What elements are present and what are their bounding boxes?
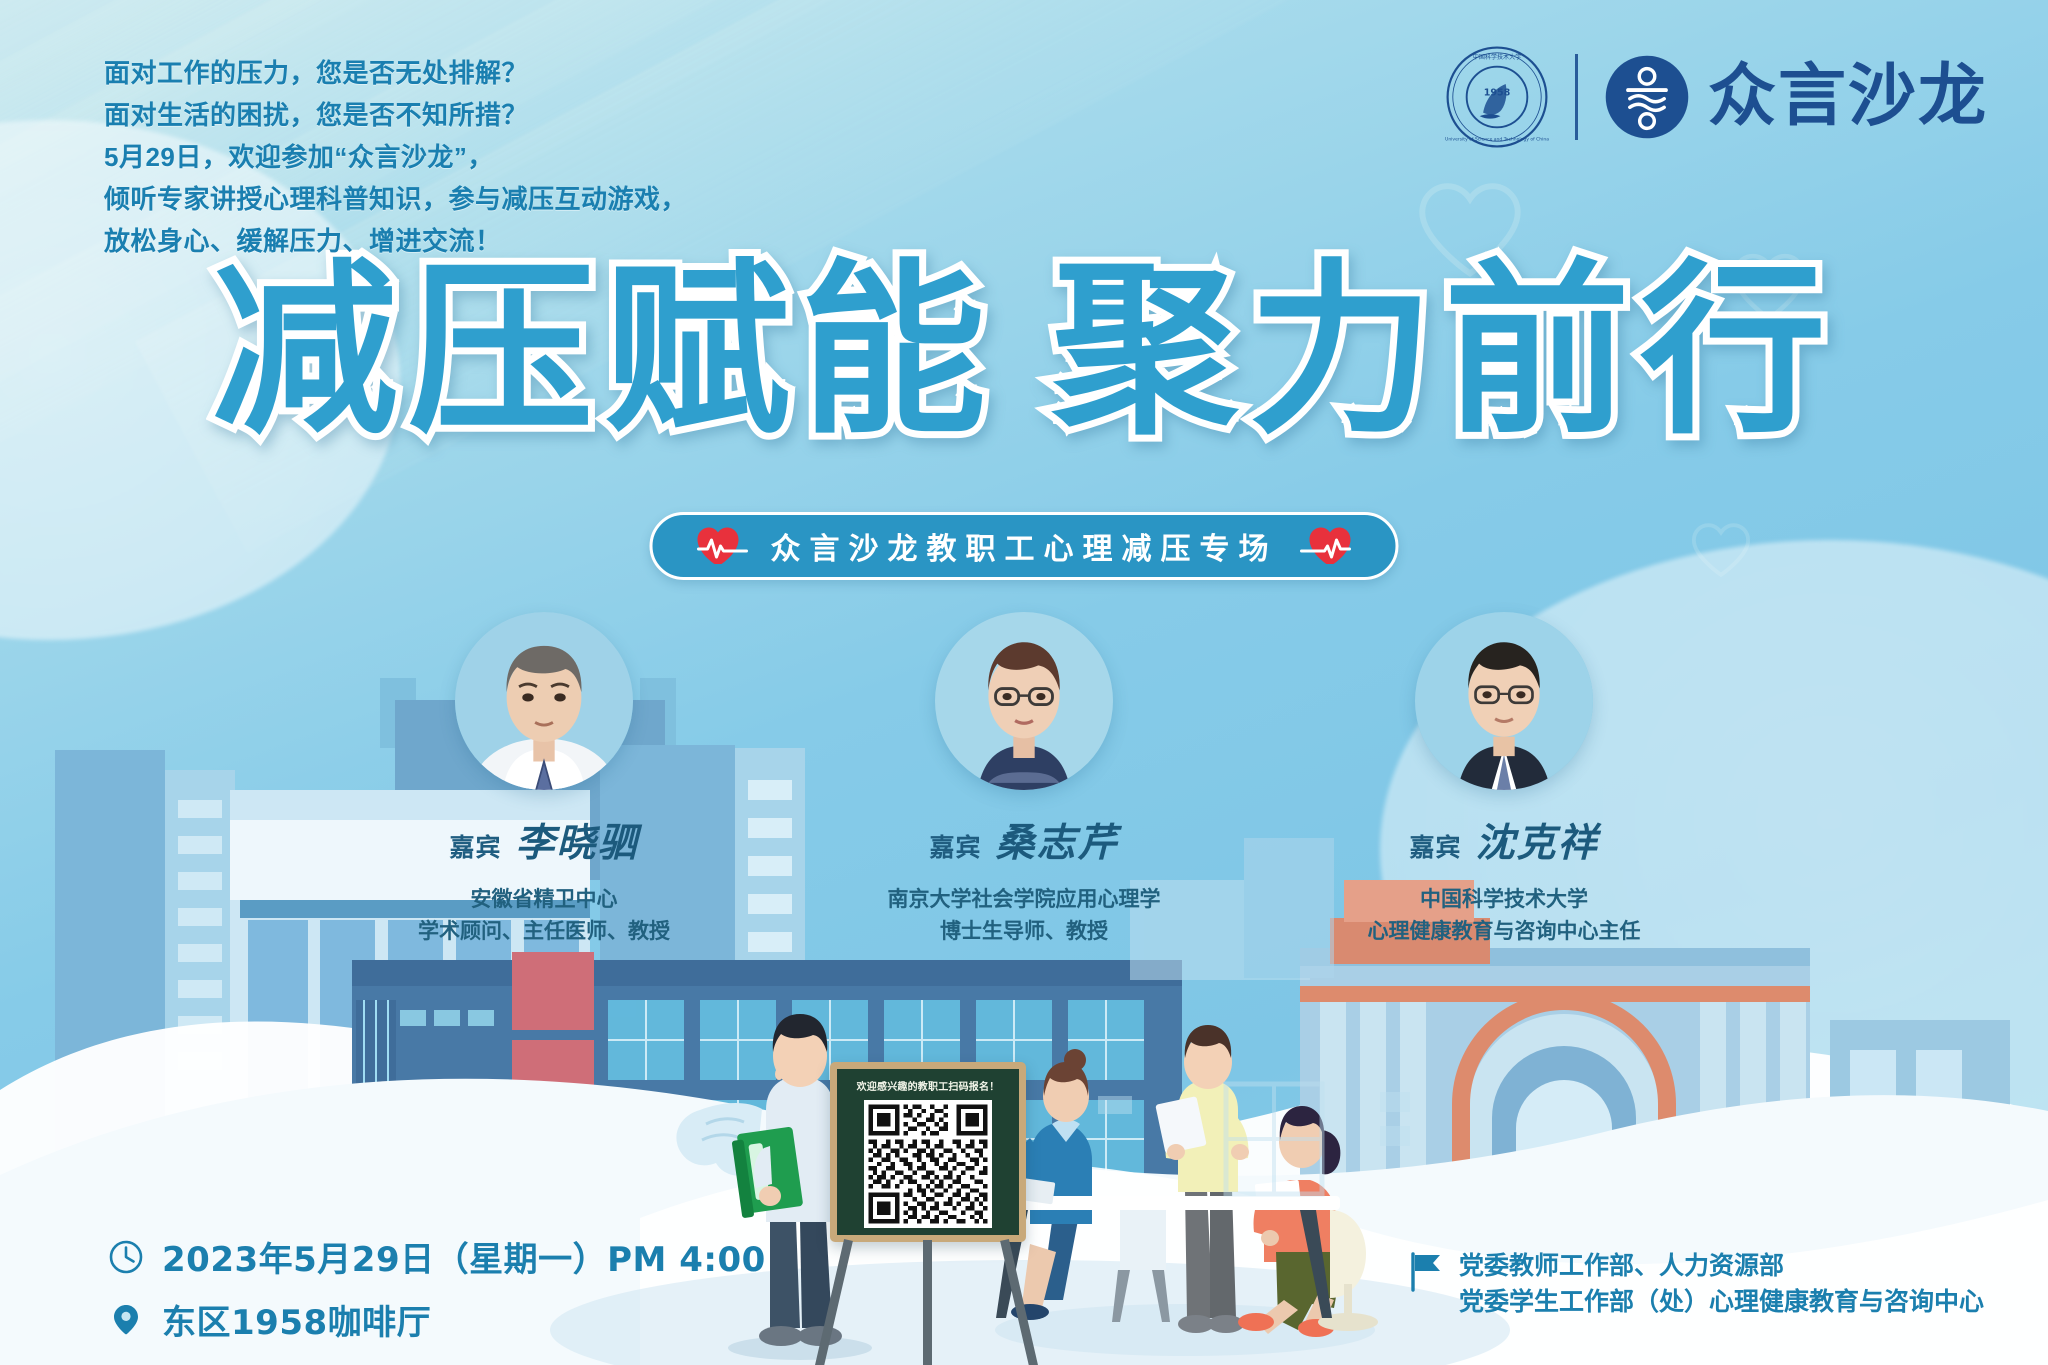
board-leg-left xyxy=(814,1239,853,1365)
board-leg-center xyxy=(923,1240,932,1365)
registration-board: 欢迎感兴趣的教职工扫码报名！ xyxy=(830,1062,1026,1242)
title-part-2: 聚力前行 xyxy=(1052,242,1836,459)
guest-affiliation-line: 南京大学社会学院应用心理学 xyxy=(859,884,1189,916)
guest-name-line: 嘉宾 李晓驷 xyxy=(379,812,709,868)
event-location: 东区1958咖啡厅 xyxy=(162,1295,431,1344)
title-part-1: 减压赋能 xyxy=(212,242,996,459)
intro-paragraph: 面对工作的压力，您是否无处排解？ 面对生活的困扰，您是否不知所措？ 5月29日，… xyxy=(104,52,687,263)
decorative-heart-icon xyxy=(1690,520,1752,578)
guest-card: 嘉宾 李晓驷 安徽省精卫中心 学术顾问、主任医师、教授 xyxy=(379,612,709,947)
guest-name: 桑志芹 xyxy=(996,812,1119,868)
guest-card: 嘉宾 沈克祥 中国科学技术大学 心理健康教育与咨询中心主任 xyxy=(1339,612,1669,947)
guest-name-line: 嘉宾 沈克祥 xyxy=(1339,812,1669,868)
guest-affiliation-line: 安徽省精卫中心 xyxy=(379,884,709,916)
illustration-meeting-group xyxy=(995,1025,1378,1356)
registration-qr-code[interactable] xyxy=(864,1100,992,1228)
guest-name: 李晓驷 xyxy=(516,812,639,868)
blackboard: 欢迎感兴趣的教职工扫码报名！ xyxy=(830,1062,1026,1242)
guest-affiliation: 中国科学技术大学 心理健康教育与咨询中心主任 xyxy=(1339,884,1669,947)
guest-affiliation-line: 心理健康教育与咨询中心主任 xyxy=(1339,916,1669,948)
subtitle-text: 众言沙龙教职工心理减压专场 xyxy=(771,524,1278,568)
guest-affiliation-line: 博士生导师、教授 xyxy=(859,916,1189,948)
guest-role-label: 嘉宾 xyxy=(1409,828,1461,864)
guest-affiliation-line: 学术顾问、主任医师、教授 xyxy=(379,916,709,948)
svg-text:1958: 1958 xyxy=(1484,87,1511,98)
poster-root: 面对工作的压力，您是否无处排解？ 面对生活的困扰，您是否不知所措？ 5月29日，… xyxy=(0,0,2048,1365)
logo-block: 1958 中国科学技术大学 University of Science and … xyxy=(1445,45,1988,149)
svg-text:中国科学技术大学: 中国科学技术大学 xyxy=(1473,53,1521,61)
guest-portrait-li-xiaosi xyxy=(455,612,633,790)
intro-line-2: 面对生活的困扰，您是否不知所措？ xyxy=(104,94,687,136)
intro-line-1: 面对工作的压力，您是否无处排解？ xyxy=(104,52,687,94)
heart-ecg-icon xyxy=(1300,523,1356,569)
guest-name: 沈克祥 xyxy=(1476,812,1599,868)
event-datetime-row: 2023年5月29日（星期一）PM 4:00 xyxy=(108,1232,766,1281)
subtitle-banner: 众言沙龙教职工心理减压专场 xyxy=(650,512,1399,580)
guest-affiliation: 安徽省精卫中心 学术顾问、主任医师、教授 xyxy=(379,884,709,947)
blackboard-invite-text: 欢迎感兴趣的教职工扫码报名！ xyxy=(857,1078,1000,1093)
organizer-line: 党委学生工作部（处）心理健康教育与咨询中心 xyxy=(1459,1284,1984,1320)
logo-divider xyxy=(1575,54,1578,140)
organizer-line: 党委教师工作部、人力资源部 xyxy=(1459,1248,1984,1284)
event-details: 2023年5月29日（星期一）PM 4:00 东区1958咖啡厅 xyxy=(108,1232,766,1358)
flag-icon xyxy=(1409,1252,1443,1292)
guest-portrait-sang-zhiqin xyxy=(935,612,1113,790)
clock-icon xyxy=(108,1239,144,1275)
event-datetime: 2023年5月29日（星期一）PM 4:00 xyxy=(162,1232,766,1281)
main-campus-building xyxy=(352,952,1182,1270)
guest-list: 嘉宾 李晓驷 安徽省精卫中心 学术顾问、主任医师、教授 xyxy=(0,612,2048,947)
page-title: 减压赋能聚力前行 xyxy=(212,258,1836,444)
guest-portrait-shen-kexiang xyxy=(1415,612,1593,790)
salon-logo: 众言沙龙 xyxy=(1604,54,1988,140)
guest-name-line: 嘉宾 桑志芹 xyxy=(859,812,1189,868)
person-speaking-circle-icon xyxy=(1604,54,1690,140)
heart-ecg-icon xyxy=(693,523,749,569)
background-window-frames xyxy=(1098,1084,1410,1194)
guest-affiliation-line: 中国科学技术大学 xyxy=(1339,884,1669,916)
organizers: 党委教师工作部、人力资源部 党委学生工作部（处）心理健康教育与咨询中心 xyxy=(1409,1248,1984,1321)
map-pin-icon xyxy=(108,1302,144,1338)
svg-text:University of Science and Tech: University of Science and Technology of … xyxy=(1445,136,1549,142)
salon-name: 众言沙龙 xyxy=(1708,63,1988,131)
event-location-row: 东区1958咖啡厅 xyxy=(108,1295,766,1344)
guest-card: 嘉宾 桑志芹 南京大学社会学院应用心理学 博士生导师、教授 xyxy=(859,612,1189,947)
intro-line-4: 倾听专家讲授心理科普知识，参与减压互动游戏， xyxy=(104,178,687,220)
board-leg-right xyxy=(1000,1239,1039,1365)
organizer-lines: 党委教师工作部、人力资源部 党委学生工作部（处）心理健康教育与咨询中心 xyxy=(1459,1248,1984,1321)
main-title-wrap: 减压赋能聚力前行 xyxy=(0,258,2048,444)
guest-role-label: 嘉宾 xyxy=(449,828,501,864)
intro-line-5: 放松身心、缓解压力、增进交流！ xyxy=(104,220,687,262)
ustc-seal-icon: 1958 中国科学技术大学 University of Science and … xyxy=(1445,45,1549,149)
guest-affiliation: 南京大学社会学院应用心理学 博士生导师、教授 xyxy=(859,884,1189,947)
guest-role-label: 嘉宾 xyxy=(929,828,981,864)
intro-line-3: 5月29日，欢迎参加“众言沙龙”， xyxy=(104,136,687,178)
